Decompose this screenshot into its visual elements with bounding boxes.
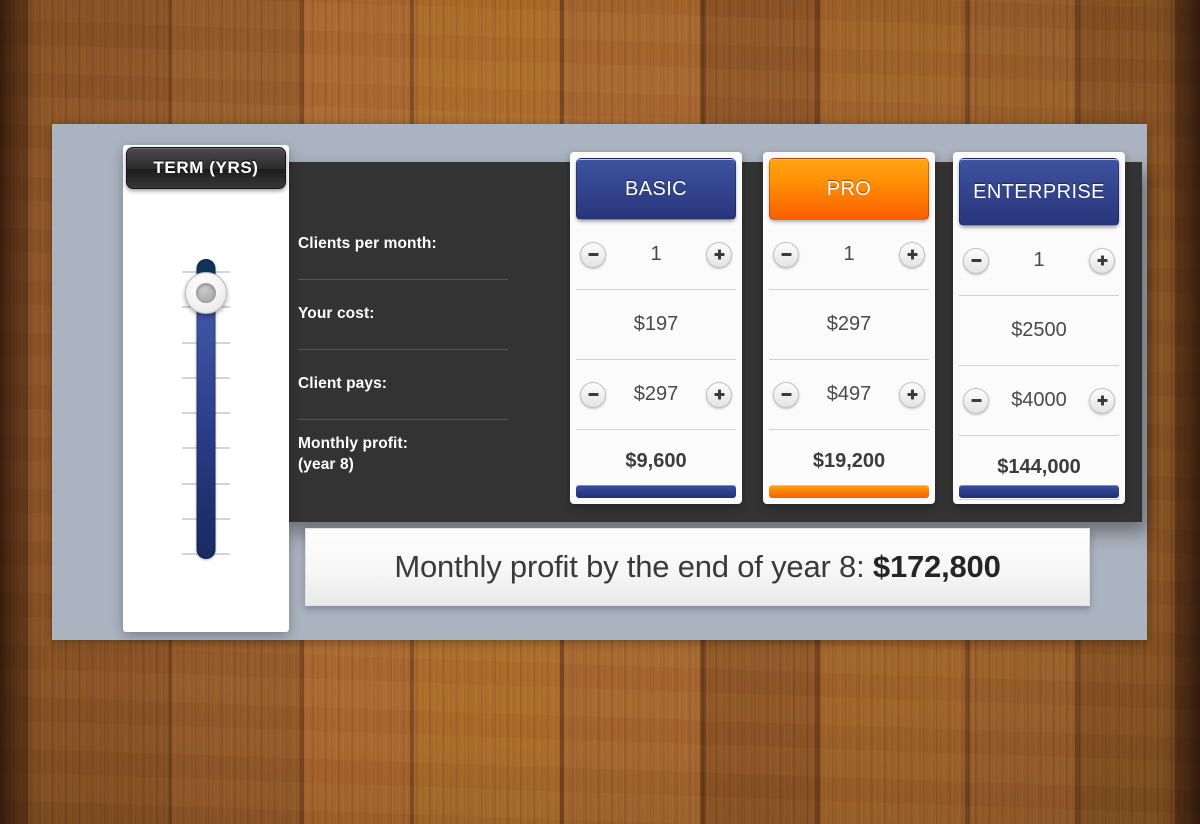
label-column-spacer: [298, 162, 508, 210]
plan-name-label: ENTERPRISE: [973, 181, 1105, 204]
increment-clients-basic-button[interactable]: [706, 242, 732, 268]
plus-icon: [713, 388, 726, 401]
term-badge: TERM (YRS): [126, 147, 286, 189]
cell-pro-client-pays: $497: [769, 360, 929, 430]
plan-footer-bar-enterprise: [959, 485, 1119, 498]
cell-basic-clients-per-month: 1: [576, 220, 736, 290]
plan-name-label: BASIC: [625, 178, 687, 201]
value-client-pays-basic: $297: [634, 383, 679, 406]
summary-bar: Monthly profit by the end of year 8: $17…: [305, 528, 1090, 606]
slider-handle-inner: [196, 283, 216, 303]
row-label-client-pays: Client pays:: [298, 350, 508, 420]
increment-client-pays-pro-button[interactable]: [899, 382, 925, 408]
value-monthly-profit-pro: $19,200: [813, 450, 885, 473]
term-badge-label: TERM (YRS): [153, 158, 258, 178]
plan-header-pro[interactable]: PRO: [769, 158, 929, 220]
decrement-clients-basic-button[interactable]: [580, 242, 606, 268]
cell-enterprise-client-pays: $4000: [959, 366, 1119, 436]
plan-column-pro: PRO 1 $297: [763, 152, 935, 504]
decrement-client-pays-enterprise-button[interactable]: [963, 388, 989, 414]
value-client-pays-enterprise: $4000: [1011, 389, 1067, 412]
plus-icon: [906, 248, 919, 261]
value-clients-basic: 1: [650, 243, 661, 266]
cell-basic-client-pays: $297: [576, 360, 736, 430]
term-slider-card: TERM (YRS): [123, 145, 289, 632]
minus-icon: [587, 388, 600, 401]
value-your-cost-basic: $197: [634, 313, 679, 336]
plus-icon: [1096, 254, 1109, 267]
pricing-table: Clients per month: Your cost: Client pay…: [280, 162, 1142, 522]
row-label-monthly-profit: Monthly profit: (year 8): [298, 420, 508, 490]
decrement-client-pays-pro-button[interactable]: [773, 382, 799, 408]
value-your-cost-pro: $297: [827, 313, 872, 336]
row-label-column: Clients per month: Your cost: Client pay…: [280, 162, 508, 522]
value-monthly-profit-enterprise: $144,000: [997, 456, 1080, 479]
increment-client-pays-basic-button[interactable]: [706, 382, 732, 408]
cell-pro-your-cost: $297: [769, 290, 929, 360]
value-clients-pro: 1: [843, 243, 854, 266]
decrement-clients-enterprise-button[interactable]: [963, 248, 989, 274]
minus-icon: [587, 248, 600, 261]
calculator-panel: Clients per month: Your cost: Client pay…: [52, 124, 1147, 640]
row-label-your-cost: Your cost:: [298, 280, 508, 350]
plan-column-basic: BASIC 1 $197: [570, 152, 742, 504]
minus-icon: [970, 394, 983, 407]
plan-footer-bar-basic: [576, 485, 736, 498]
row-label-text: Client pays:: [298, 374, 387, 395]
slider-handle[interactable]: [185, 272, 227, 314]
plan-footer-bar-pro: [769, 485, 929, 498]
minus-icon: [780, 388, 793, 401]
cell-pro-clients-per-month: 1: [769, 220, 929, 290]
value-clients-enterprise: 1: [1033, 249, 1044, 272]
value-client-pays-pro: $497: [827, 383, 872, 406]
row-label-clients-per-month: Clients per month:: [298, 210, 508, 280]
plan-column-enterprise: ENTERPRISE 1 $2500: [953, 152, 1125, 504]
row-label-line2: (year 8): [298, 456, 354, 473]
row-label-text: Your cost:: [298, 304, 375, 325]
summary-amount: $172,800: [873, 549, 1001, 584]
row-label-text: Monthly profit: (year 8): [298, 434, 408, 476]
cell-enterprise-clients-per-month: 1: [959, 226, 1119, 296]
decrement-client-pays-basic-button[interactable]: [580, 382, 606, 408]
plus-icon: [713, 248, 726, 261]
plan-header-enterprise[interactable]: ENTERPRISE: [959, 158, 1119, 226]
plan-header-basic[interactable]: BASIC: [576, 158, 736, 220]
minus-icon: [970, 254, 983, 267]
row-label-line1: Monthly profit:: [298, 435, 408, 452]
plus-icon: [906, 388, 919, 401]
value-your-cost-enterprise: $2500: [1011, 319, 1067, 342]
minus-icon: [780, 248, 793, 261]
increment-client-pays-enterprise-button[interactable]: [1089, 388, 1115, 414]
plan-name-label: PRO: [827, 178, 872, 201]
row-label-text: Clients per month:: [298, 234, 437, 255]
cell-enterprise-your-cost: $2500: [959, 296, 1119, 366]
summary-text: Monthly profit by the end of year 8: $17…: [394, 549, 1000, 585]
plus-icon: [1096, 394, 1109, 407]
decrement-clients-pro-button[interactable]: [773, 242, 799, 268]
increment-clients-pro-button[interactable]: [899, 242, 925, 268]
cell-basic-your-cost: $197: [576, 290, 736, 360]
increment-clients-enterprise-button[interactable]: [1089, 248, 1115, 274]
term-slider[interactable]: [123, 253, 289, 593]
summary-prefix: Monthly profit by the end of year 8:: [394, 549, 873, 584]
value-monthly-profit-basic: $9,600: [625, 450, 686, 473]
